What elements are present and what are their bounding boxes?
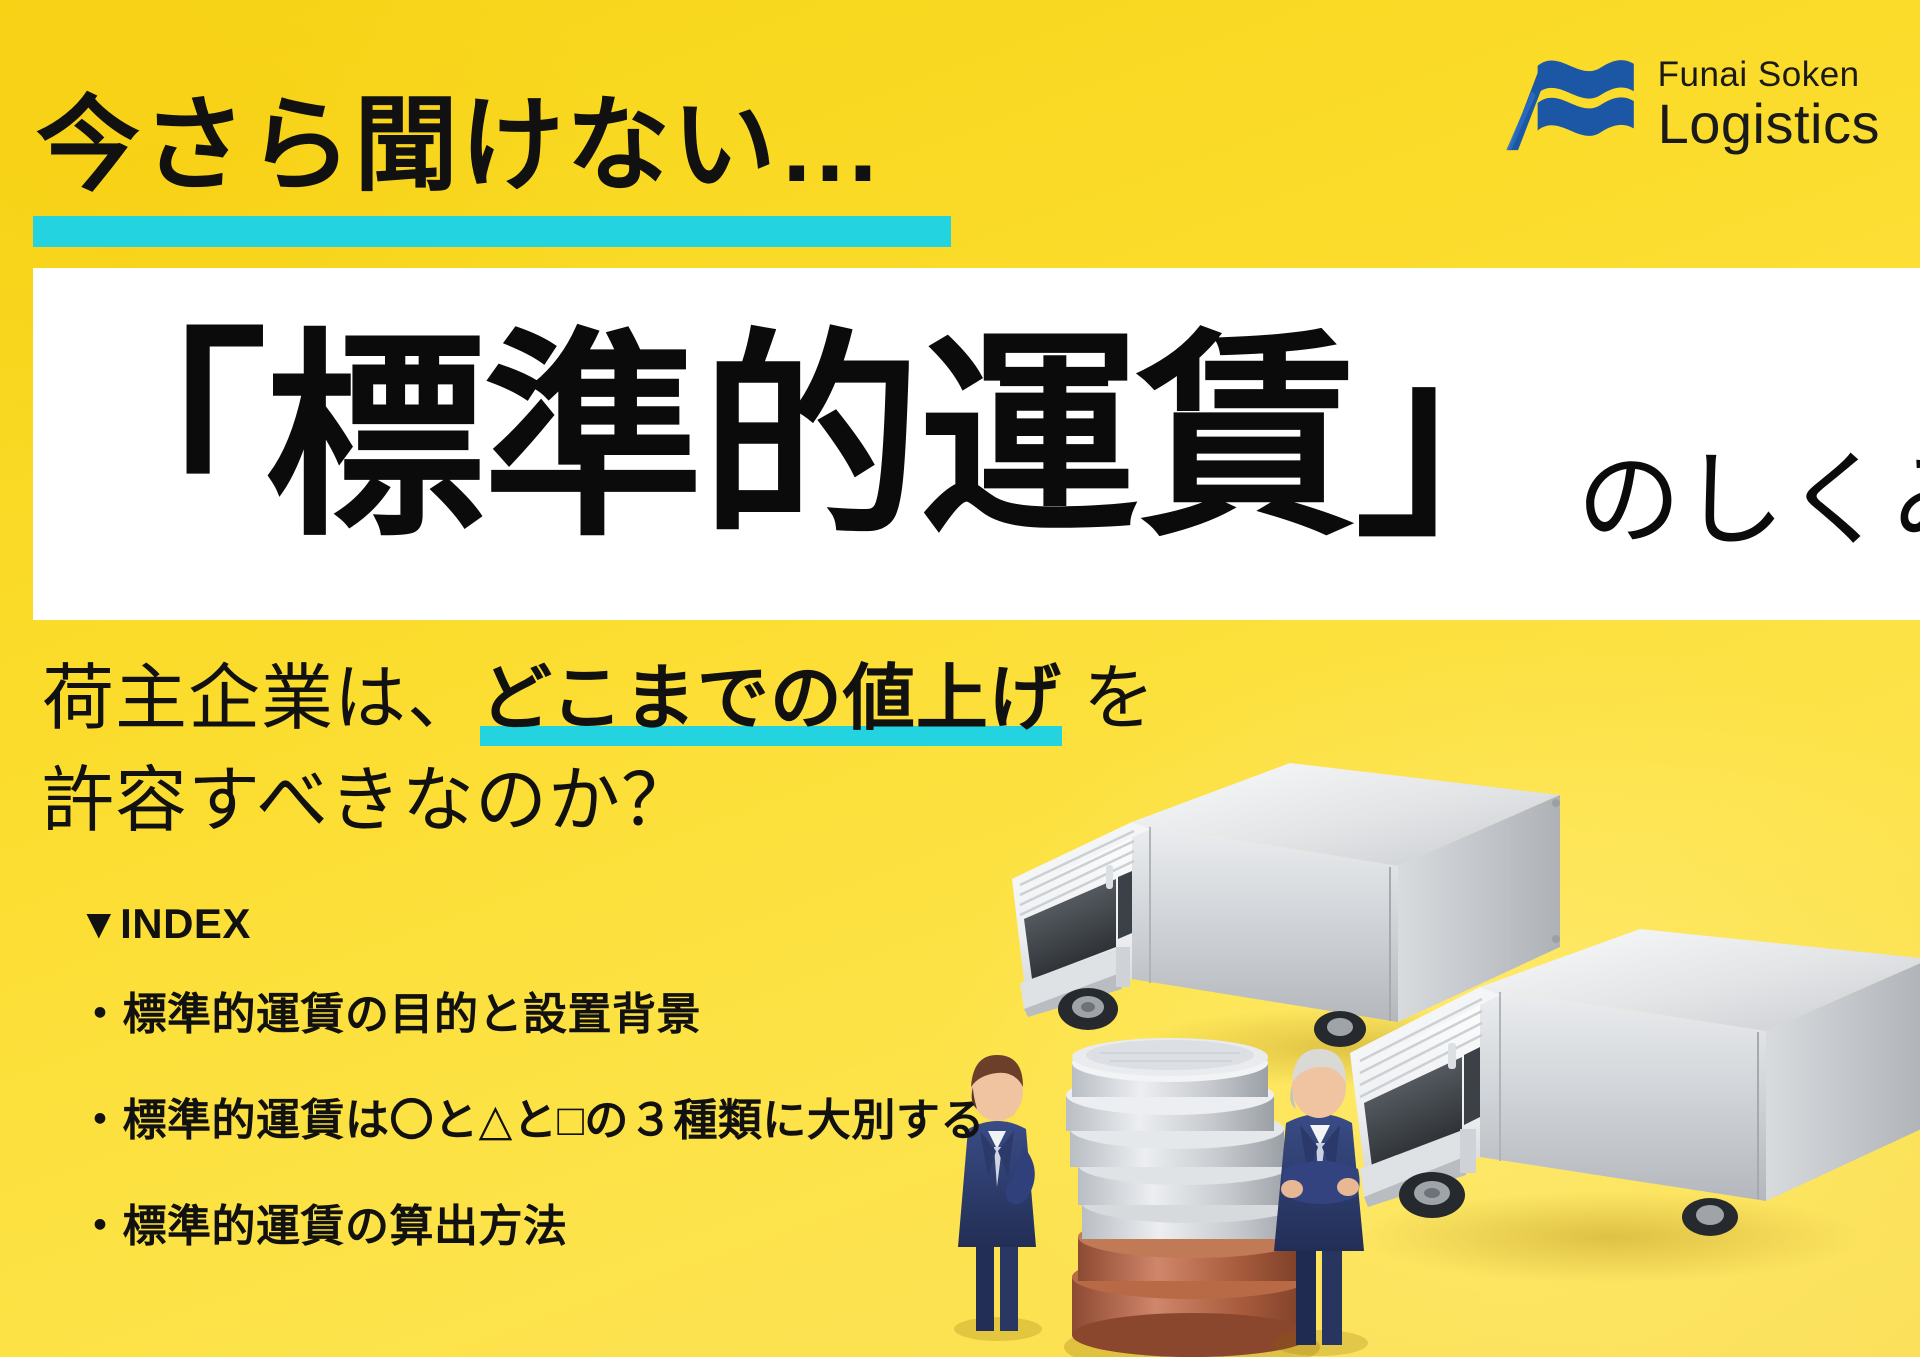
coin-stack [1064,1038,1320,1357]
logo-line-2: Logistics [1658,96,1880,152]
index-heading: ▼INDEX [78,900,985,948]
list-item: ・標準的運賃は〇と△と□の３種類に大別する [78,1084,985,1148]
kicker-text: 今さら聞けない… [36,92,884,201]
kicker-highlight-bar [33,216,951,247]
list-item: ・標準的運賃の算出方法 [78,1190,985,1254]
subtitle: 荷主企業は、どこまでの値上げ を 許容すべきなのか？ [42,648,1156,852]
logo-line-1: Funai Soken [1658,57,1880,92]
wheel [1682,1198,1738,1236]
logo-wordmark: Funai Soken Logistics [1658,57,1880,152]
wheel [1314,1011,1366,1047]
page-title: 「標準的運賃」 [47,328,1573,548]
subtitle-suffix: を [1062,659,1156,739]
index-block: ▼INDEX ・標準的運賃の目的と設置背景 ・標準的運賃は〇と△と□の３種類に大… [78,900,985,1296]
subtitle-line-1: 荷主企業は、どこまでの値上げ を [42,648,1156,750]
wheel [1058,988,1118,1030]
list-item: ・標準的運賃の目的と設置背景 [78,978,985,1042]
brand-logo: Funai Soken Logistics [1502,52,1880,156]
funai-soken-wave-flag-icon [1502,52,1640,156]
page-title-suffix: のしくみ [1577,415,1920,566]
figurine-right [1272,1049,1368,1356]
subtitle-line-2: 許容すべきなのか？ [42,750,1156,852]
truck-front-shadow [1360,1191,1860,1283]
poster-canvas: 今さら聞けない… 「標準的運賃」 のしくみ 荷主企業は、どこまでの値上げ を 許… [0,0,1920,1357]
title-band: 「標準的運賃」 のしくみ [33,268,1920,620]
truck-rear-shadow [1140,1007,1560,1087]
truck-front [1350,929,1920,1236]
wheel [1399,1172,1465,1218]
subtitle-prefix: 荷主企業は、 [42,659,480,739]
index-list: ・標準的運賃の目的と設置背景 ・標準的運賃は〇と△と□の３種類に大別する ・標準… [78,978,985,1254]
subtitle-emphasis: どこまでの値上げ [480,648,1062,750]
